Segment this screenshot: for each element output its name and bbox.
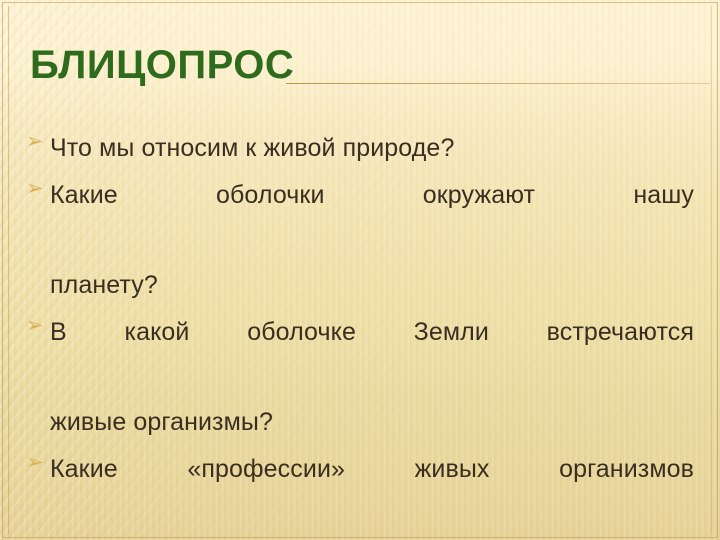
list-item-line: живые организмы? [50, 408, 273, 436]
question-list: ➢ Что мы относим к живой природе? ➢ Каки… [26, 126, 694, 540]
list-item-line: Что мы относим к живой природе? [50, 134, 454, 162]
list-item-line: В какой оболочке Земли встречаются [50, 310, 694, 400]
list-item: ➢ Что мы относим к живой природе? [26, 126, 694, 171]
slide-frame-inner-right-line [711, 6, 712, 534]
title-underline-rule [286, 83, 710, 84]
list-item: ➢ Какие «профессии» живых организмов вы … [26, 447, 694, 540]
bullet-arrow-icon: ➢ [26, 447, 50, 479]
bullet-arrow-icon: ➢ [26, 126, 50, 158]
bullet-arrow-icon: ➢ [26, 173, 50, 205]
list-item-line: Какие оболочки окружают нашу [50, 173, 694, 263]
list-item-text: Какие «профессии» живых организмов вы зн… [50, 447, 694, 540]
list-item: ➢ Какие оболочки окружают нашу планету? [26, 173, 694, 308]
list-item-text: Какие оболочки окружают нашу планету? [50, 173, 694, 308]
list-item-text: В какой оболочке Земли встречаются живые… [50, 310, 694, 445]
list-item-line: планету? [50, 271, 158, 299]
slide-frame-inner-left-line [8, 6, 9, 534]
slide-canvas: БЛИЦОПРОС ➢ Что мы относим к живой приро… [0, 0, 720, 540]
list-item: ➢ В какой оболочке Земли встречаются жив… [26, 310, 694, 445]
page-title: БЛИЦОПРОС [30, 45, 294, 85]
bullet-arrow-icon: ➢ [26, 310, 50, 342]
list-item-line: Какие «профессии» живых организмов [50, 447, 694, 537]
list-item-text: Что мы относим к живой природе? [50, 126, 694, 171]
